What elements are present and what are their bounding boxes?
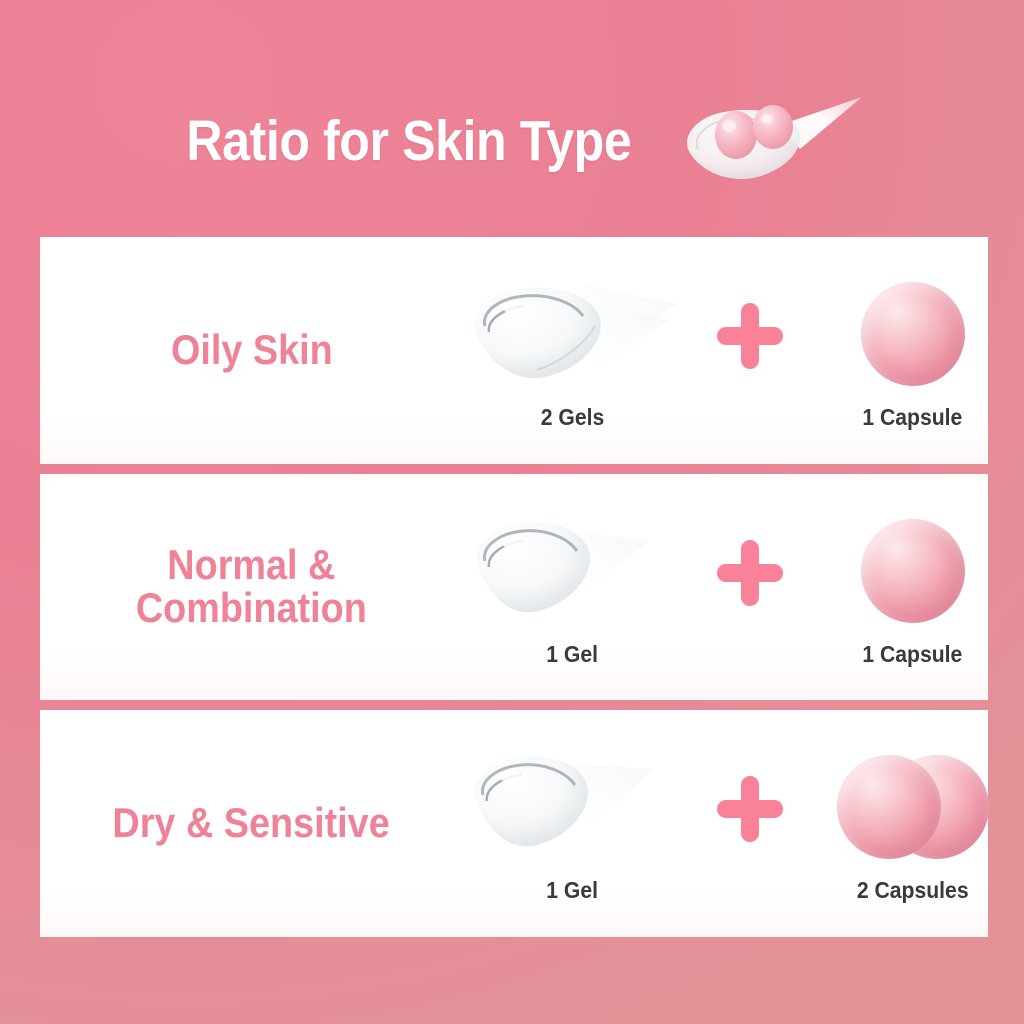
gel-with-two-capsules-icon <box>672 91 868 191</box>
header: Ratio for Skin Type <box>0 86 1024 196</box>
capsule-item: 2 Capsules <box>810 743 1015 904</box>
capsule-pair <box>837 755 989 859</box>
gel-art <box>455 270 690 398</box>
capsule-sphere <box>861 519 965 623</box>
capsule-icon <box>861 511 965 631</box>
plus-operator <box>690 509 810 637</box>
capsule-caption: 1 Capsule <box>863 404 963 431</box>
gel-caption: 1 Gel <box>547 641 599 668</box>
capsule-caption: 1 Capsule <box>863 641 963 668</box>
table-row: Normal & Combination <box>40 474 988 701</box>
gel-caption: 1 Gel <box>547 877 599 904</box>
skin-type-label: Dry & Sensitive <box>113 802 390 845</box>
plus-icon <box>717 540 783 606</box>
skin-type-cell: Dry & Sensitive <box>40 710 455 937</box>
plus-icon <box>717 776 783 842</box>
plus-operator <box>690 745 810 873</box>
page-title: Ratio for Skin Type <box>186 113 631 170</box>
formula-cell: 1 Gel 1 Capsule <box>455 474 1024 701</box>
skin-type-label: Oily Skin <box>171 329 333 372</box>
capsule-sphere <box>837 755 941 859</box>
gel-swatch-icon <box>463 747 683 867</box>
formula-cell: 2 Gels 1 Capsule <box>455 237 1024 464</box>
capsule-icon <box>861 274 965 394</box>
infographic-canvas: Ratio for Skin Type <box>0 0 1024 1024</box>
plus-operator <box>690 272 810 400</box>
capsule-item: 1 Capsule <box>810 270 1015 431</box>
formula-cell: 1 Gel 2 Capsules <box>455 710 1024 937</box>
gel-item: 1 Gel <box>455 507 690 668</box>
gel-caption: 2 Gels <box>541 404 605 431</box>
capsule-art <box>810 743 1015 871</box>
skin-type-cell: Oily Skin <box>40 237 455 464</box>
capsule-art <box>810 507 1015 635</box>
ratio-table: Oily Skin <box>40 237 988 937</box>
skin-type-label: Normal & Combination <box>136 544 367 630</box>
gel-swatch-icon <box>463 274 683 394</box>
gel-swatch-icon <box>463 511 683 631</box>
gel-art <box>455 507 690 635</box>
plus-icon <box>717 303 783 369</box>
capsule-icon <box>837 747 989 867</box>
capsule-caption: 2 Capsules <box>857 877 969 904</box>
table-row: Oily Skin <box>40 237 988 464</box>
capsule-item: 1 Capsule <box>810 507 1015 668</box>
table-row: Dry & Sensitive <box>40 710 988 937</box>
gel-item: 1 Gel <box>455 743 690 904</box>
gel-art <box>455 743 690 871</box>
capsule-art <box>810 270 1015 398</box>
skin-type-cell: Normal & Combination <box>40 474 455 701</box>
gel-item: 2 Gels <box>455 270 690 431</box>
capsule-sphere <box>861 282 965 386</box>
